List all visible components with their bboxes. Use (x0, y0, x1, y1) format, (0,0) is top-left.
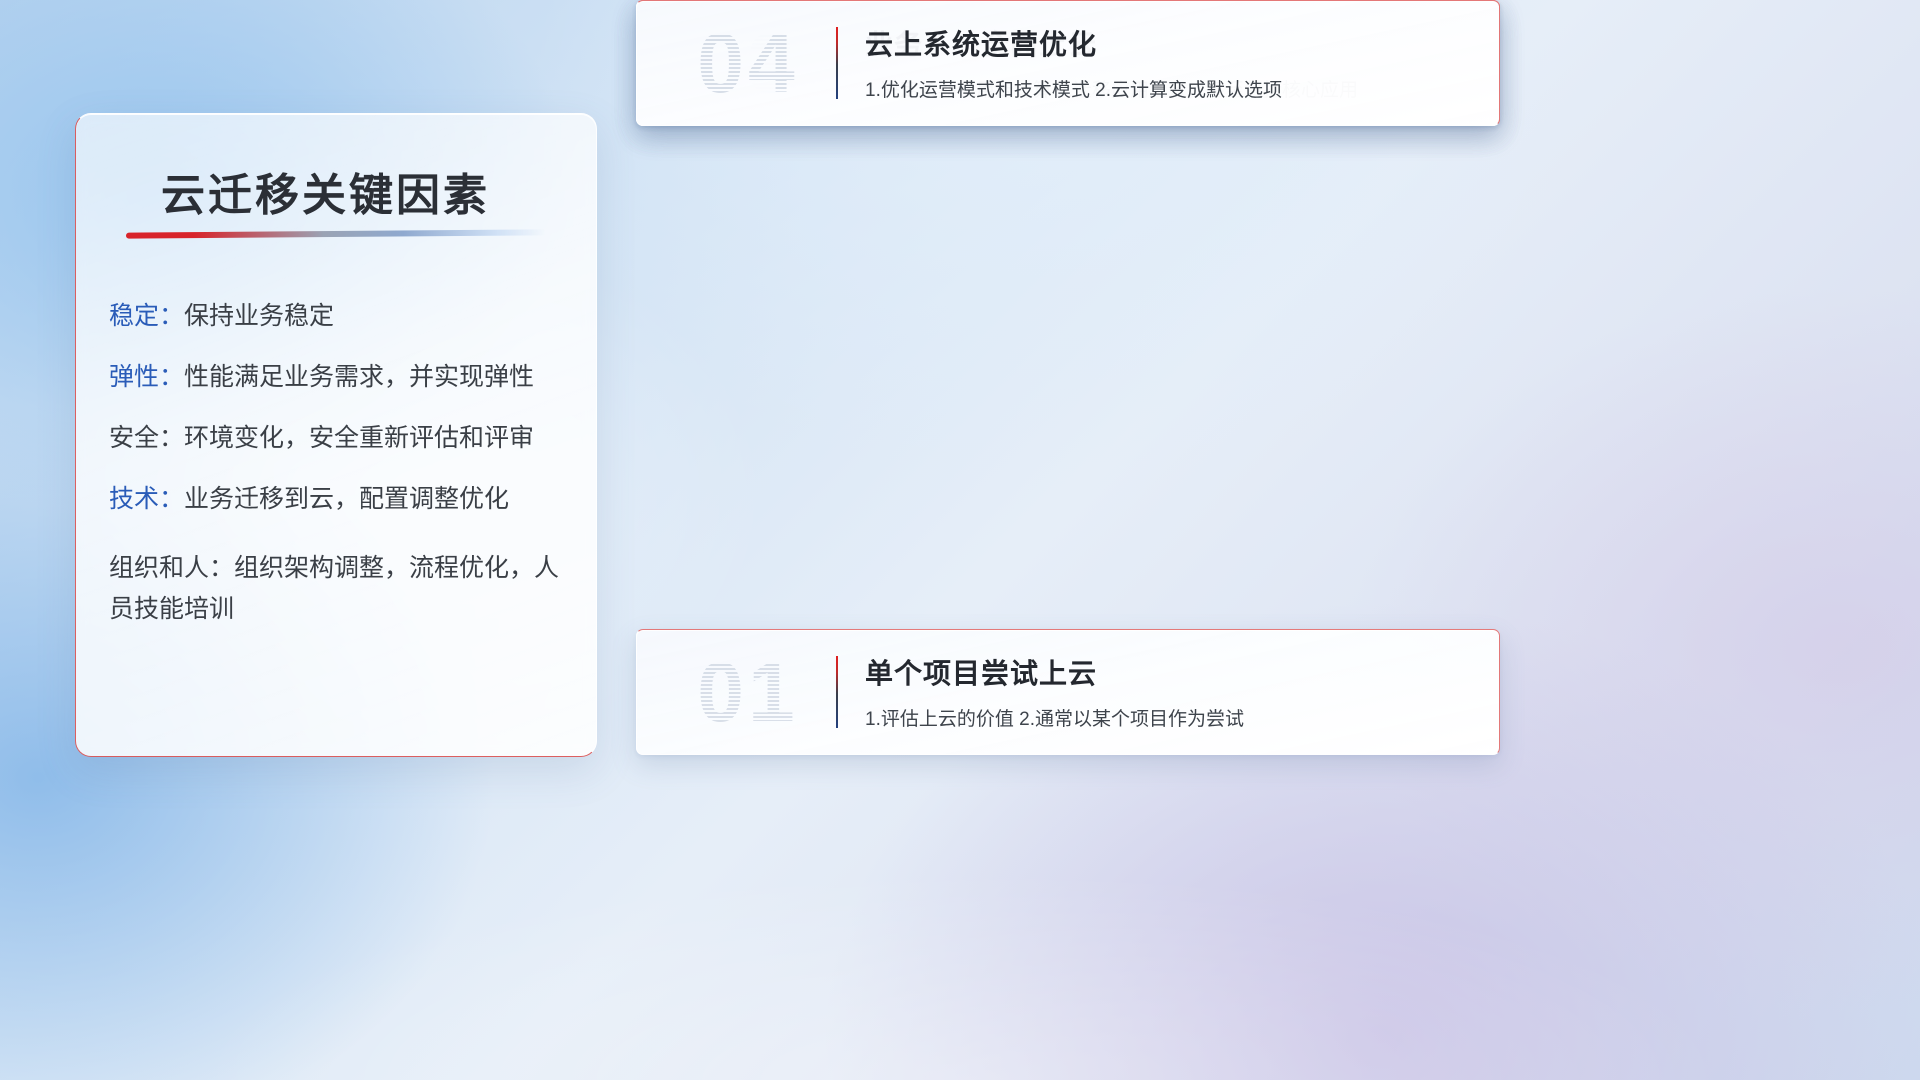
list-item: 组织和人：组织架构调整，流程优化，人员技能培训 (109, 548, 570, 629)
stage-description: 1.评估上云的价值 2.通常以某个项目作为尝试 (865, 704, 1244, 731)
list-item: 稳定：保持业务稳定 (109, 304, 570, 329)
stage-divider (836, 27, 838, 99)
list-item: 安全：环境变化，安全重新评估和评审 (109, 426, 570, 451)
stage-description: 1.优化运营模式和技术模式 2.云计算变成默认选项 (865, 75, 1282, 102)
stage-number: 01 (663, 640, 833, 744)
list-item-key: 弹性： (109, 363, 184, 391)
list-item-key: 稳定： (109, 302, 184, 330)
list-item-text: 性能满足业务需求，并实现弹性 (184, 363, 534, 391)
list-item-key: 安全： (109, 424, 184, 452)
stage-title: 单个项目尝试上云 (865, 652, 1097, 692)
list-item: 技术：业务迁移到云，配置调整优化 (109, 487, 570, 512)
panel-title: 云迁移关键因素 (161, 159, 490, 223)
list-item-key: 技术： (109, 485, 184, 513)
list-item-text: 业务迁移到云，配置调整优化 (184, 485, 509, 513)
stage-card[interactable]: 04 云上系统运营优化 1.优化运营模式和技术模式 2.云计算变成默认选项 (636, 0, 1500, 126)
stage-card[interactable]: 01 单个项目尝试上云 1.评估上云的价值 2.通常以某个项目作为尝试 (636, 629, 1500, 755)
list-item-text: 保持业务稳定 (184, 302, 334, 330)
stage-title: 云上系统运营优化 (865, 23, 1097, 63)
list-item: 弹性：性能满足业务需求，并实现弹性 (109, 365, 570, 390)
list-item-text: 环境变化，安全重新评估和评审 (184, 424, 534, 452)
title-underline-gradient (126, 229, 546, 238)
key-factors-panel: 云迁移关键因素 稳定：保持业务稳定 弹性：性能满足业务需求，并实现弹性 安全：环… (75, 113, 597, 757)
stage-number: 04 (663, 11, 833, 115)
stage-divider (836, 656, 838, 728)
list-item-key: 组织和人： (109, 554, 234, 582)
key-factors-list: 稳定：保持业务稳定 弹性：性能满足业务需求，并实现弹性 安全：环境变化，安全重新… (109, 304, 570, 665)
